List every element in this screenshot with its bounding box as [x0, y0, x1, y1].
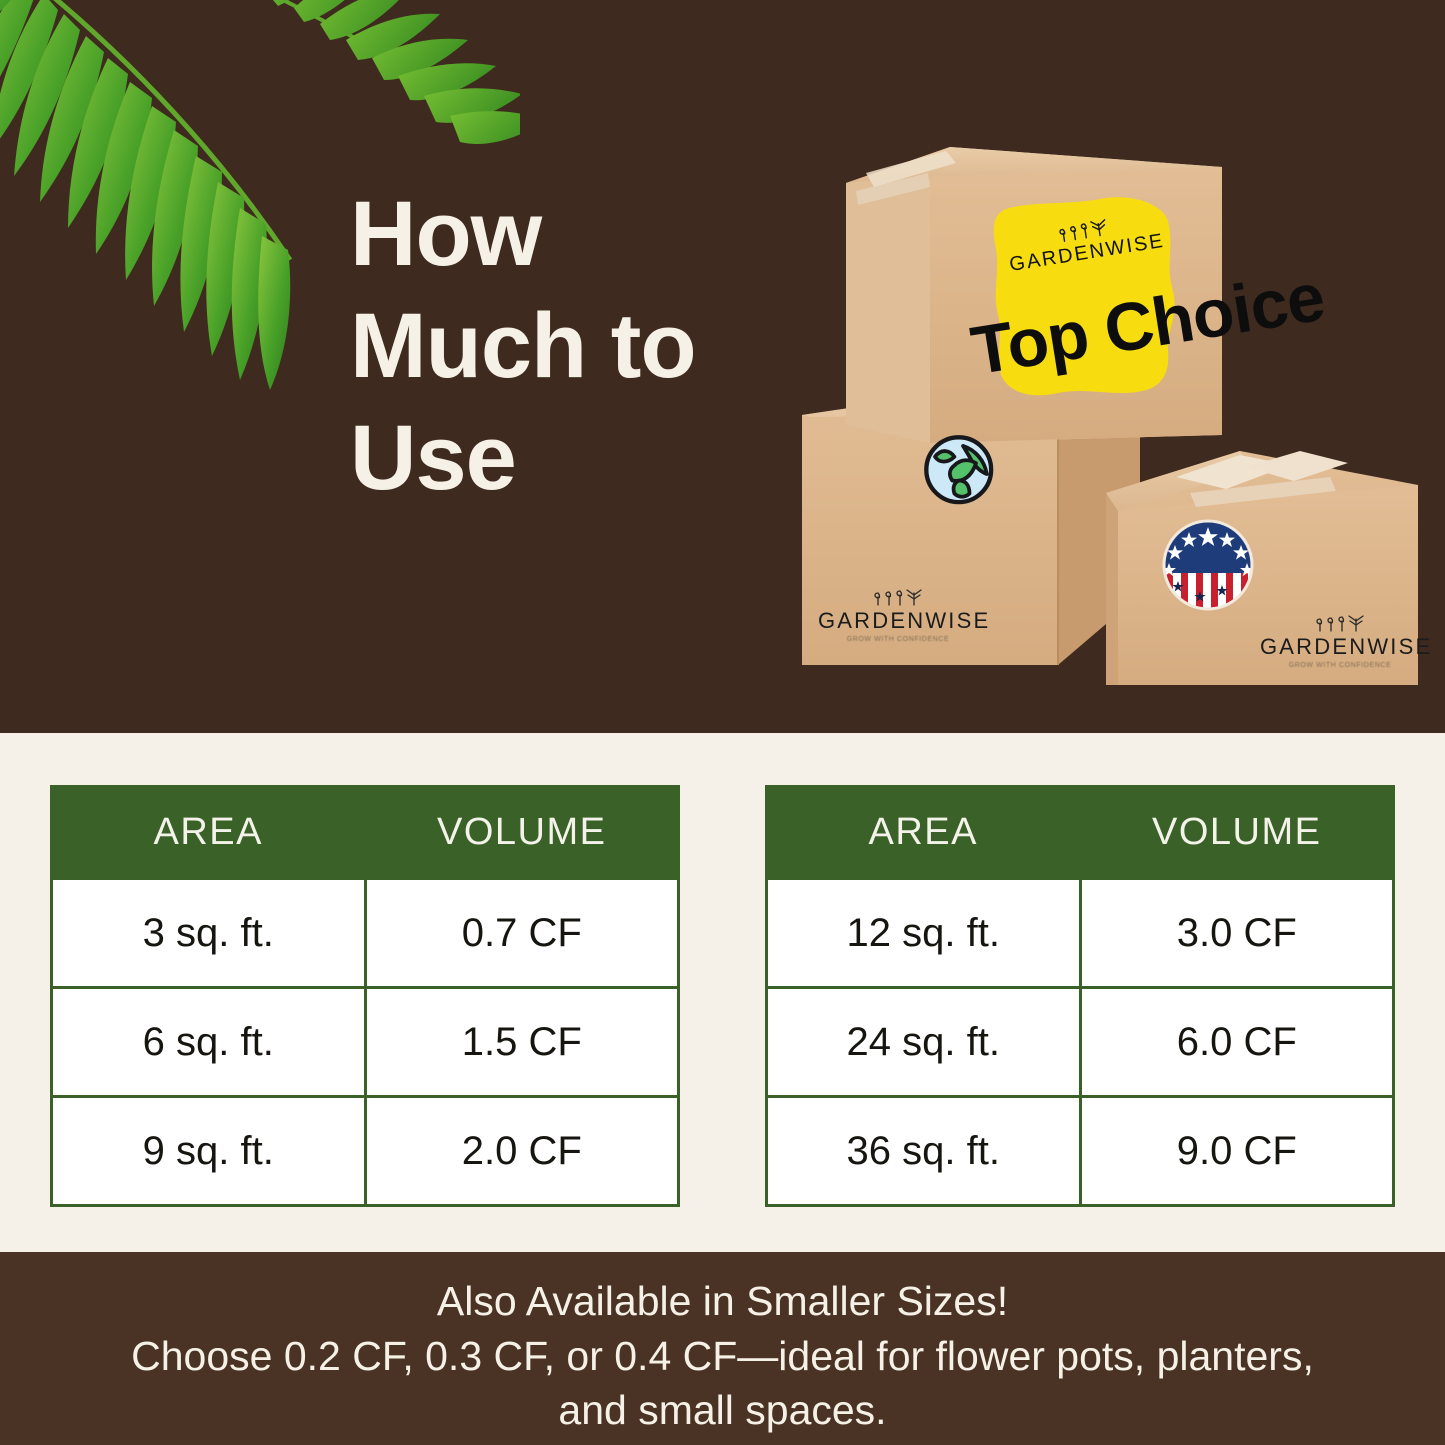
box-logo-tagline: GROW WITH CONFIDENCE [1260, 662, 1420, 669]
footnote-section: Also Available in Smaller Sizes! Choose … [0, 1252, 1445, 1445]
hero-section: How Much to Use [0, 0, 1445, 733]
cell-volume: 6.0 CF [1080, 988, 1394, 1097]
table-header-row: AREA VOLUME [767, 787, 1394, 879]
cell-area: 6 sq. ft. [52, 988, 366, 1097]
column-header-area: AREA [767, 787, 1081, 879]
sprout-icon [1314, 613, 1366, 633]
cell-volume: 3.0 CF [1080, 879, 1394, 988]
footnote-line-3: and small spaces. [30, 1383, 1415, 1438]
cell-area: 12 sq. ft. [767, 879, 1081, 988]
cell-area: 24 sq. ft. [767, 988, 1081, 1097]
headline-line-3: Use [350, 402, 770, 514]
coverage-tables-section: AREA VOLUME 3 sq. ft. 0.7 CF 6 sq. ft. 1… [0, 733, 1445, 1252]
box-logo-right: GARDENWISE GROW WITH CONFIDENCE [1260, 613, 1420, 669]
footnote-line-1: Also Available in Smaller Sizes! [30, 1274, 1415, 1329]
box-logo-middle: GARDENWISE GROW WITH CONFIDENCE [818, 587, 978, 643]
cell-volume: 1.5 CF [365, 988, 679, 1097]
table-row: 12 sq. ft. 3.0 CF [767, 879, 1394, 988]
sprout-icon [872, 587, 924, 607]
infographic-page: How Much to Use [0, 0, 1445, 1445]
headline-line-2: Much to [350, 290, 770, 402]
table-row: 24 sq. ft. 6.0 CF [767, 988, 1394, 1097]
small-coverage-table: AREA VOLUME 3 sq. ft. 0.7 CF 6 sq. ft. 1… [50, 785, 680, 1207]
product-boxes-image: GARDENWISE Top Choice GARDENWISE GROW WI… [770, 125, 1420, 685]
box-logo-tagline: GROW WITH CONFIDENCE [818, 636, 978, 643]
table-row: 36 sq. ft. 9.0 CF [767, 1097, 1394, 1206]
cell-volume: 2.0 CF [365, 1097, 679, 1206]
table-row: 6 sq. ft. 1.5 CF [52, 988, 679, 1097]
cell-area: 3 sq. ft. [52, 879, 366, 988]
column-header-area: AREA [52, 787, 366, 879]
table-header-row: AREA VOLUME [52, 787, 679, 879]
large-coverage-table: AREA VOLUME 12 sq. ft. 3.0 CF 24 sq. ft.… [765, 785, 1395, 1207]
cell-volume: 0.7 CF [365, 879, 679, 988]
cell-volume: 9.0 CF [1080, 1097, 1394, 1206]
box-logo-brand: GARDENWISE [818, 608, 978, 634]
column-header-volume: VOLUME [365, 787, 679, 879]
table-row: 3 sq. ft. 0.7 CF [52, 879, 679, 988]
cell-area: 9 sq. ft. [52, 1097, 366, 1206]
cell-area: 36 sq. ft. [767, 1097, 1081, 1206]
footnote-line-2: Choose 0.2 CF, 0.3 CF, or 0.4 CF—ideal f… [30, 1329, 1415, 1384]
column-header-volume: VOLUME [1080, 787, 1394, 879]
eco-earth-sticker [926, 437, 991, 502]
box-logo-brand: GARDENWISE [1260, 634, 1420, 660]
headline-line-1: How [350, 178, 770, 290]
page-title: How Much to Use [350, 178, 770, 515]
footnote-text: Also Available in Smaller Sizes! Choose … [0, 1274, 1445, 1438]
table-row: 9 sq. ft. 2.0 CF [52, 1097, 679, 1206]
